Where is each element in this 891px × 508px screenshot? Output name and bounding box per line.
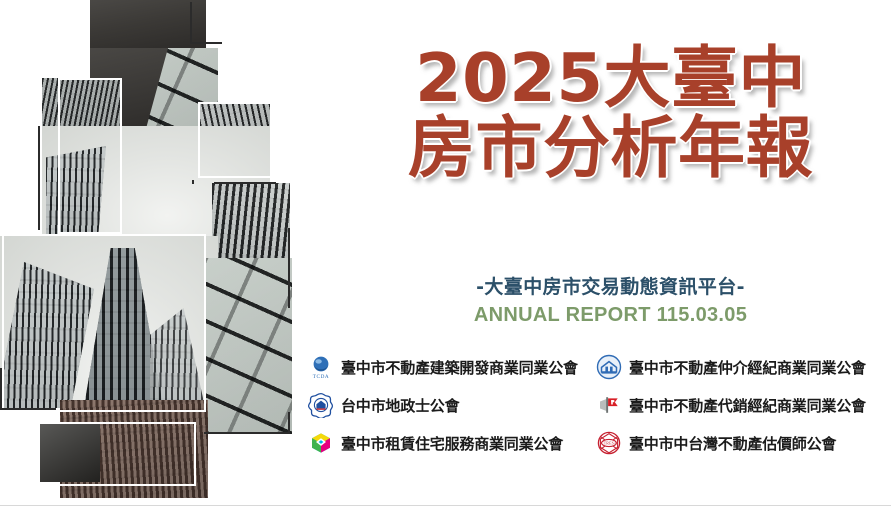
org-row: 臺中市不動產仲介經紀商業同業公會	[596, 348, 891, 386]
collage-tile-facade-upper-left	[42, 78, 120, 130]
org-label: 臺中市租賃住宅服務商業同業公會	[341, 433, 563, 454]
org-label: 臺中市不動產仲介經紀商業同業公會	[629, 357, 866, 378]
tcda-globe-icon: TCDA	[308, 354, 334, 380]
collage-tile-glass-roof	[204, 258, 292, 434]
org-label: 臺中市中台灣不動產估價師公會	[629, 433, 836, 454]
bottom-divider	[0, 505, 891, 506]
subtitle-english: ANNUAL REPORT 115.03.05	[330, 304, 891, 327]
title-line-2: 房市分析年報	[330, 114, 891, 182]
agency-red-flag-icon	[596, 392, 622, 418]
org-row: 台中市地政士公會	[308, 386, 596, 424]
title-line-1: 2025大臺中	[330, 44, 891, 112]
org-label: 臺中市不動產建築開發商業同業公會	[341, 357, 578, 378]
appraiser-red-seal-icon: CTRESA	[596, 430, 622, 456]
collage-tower-shape	[46, 146, 106, 238]
svg-text:TCDA: TCDA	[313, 374, 330, 380]
organization-list: TCDA 臺中市不動產建築開發商業同業公會 臺中	[308, 348, 891, 462]
org-row: CTRESA 臺中市中台灣不動產估價師公會	[596, 424, 891, 462]
collage-edge-accent	[0, 408, 56, 410]
collage-photo-fill	[204, 258, 292, 434]
collage-tile-main-towers	[0, 236, 218, 408]
svg-text:CTRESA: CTRESA	[601, 442, 617, 446]
photo-collage	[0, 0, 340, 508]
collage-photo-fill	[42, 78, 120, 130]
org-label: 臺中市不動產代銷經紀商業同業公會	[629, 395, 866, 416]
title-block: 2025大臺中 房市分析年報	[330, 44, 891, 183]
collage-tile-facade-bottom-left	[38, 422, 100, 482]
collage-edge-accent	[38, 126, 40, 230]
org-row: 臺中市不動產代銷經紀商業同業公會	[596, 386, 891, 424]
cover-slide: 2025大臺中 房市分析年報 -大臺中房市交易動態資訊平台- ANNUAL RE…	[0, 0, 891, 508]
org-label: 台中市地政士公會	[341, 395, 459, 416]
collage-photo-fill	[38, 422, 100, 482]
rental-housing-hexagon-icon	[308, 430, 334, 456]
content-column: 2025大臺中 房市分析年報 -大臺中房市交易動態資訊平台- ANNUAL RE…	[330, 0, 891, 508]
subtitle-chinese: -大臺中房市交易動態資訊平台-	[330, 272, 891, 299]
org-row: 臺中市租賃住宅服務商業同業公會	[308, 424, 596, 462]
land-administration-rosette-icon	[308, 392, 334, 418]
org-row: TCDA 臺中市不動產建築開發商業同業公會	[308, 348, 596, 386]
brokerage-circle-house-icon	[596, 354, 622, 380]
